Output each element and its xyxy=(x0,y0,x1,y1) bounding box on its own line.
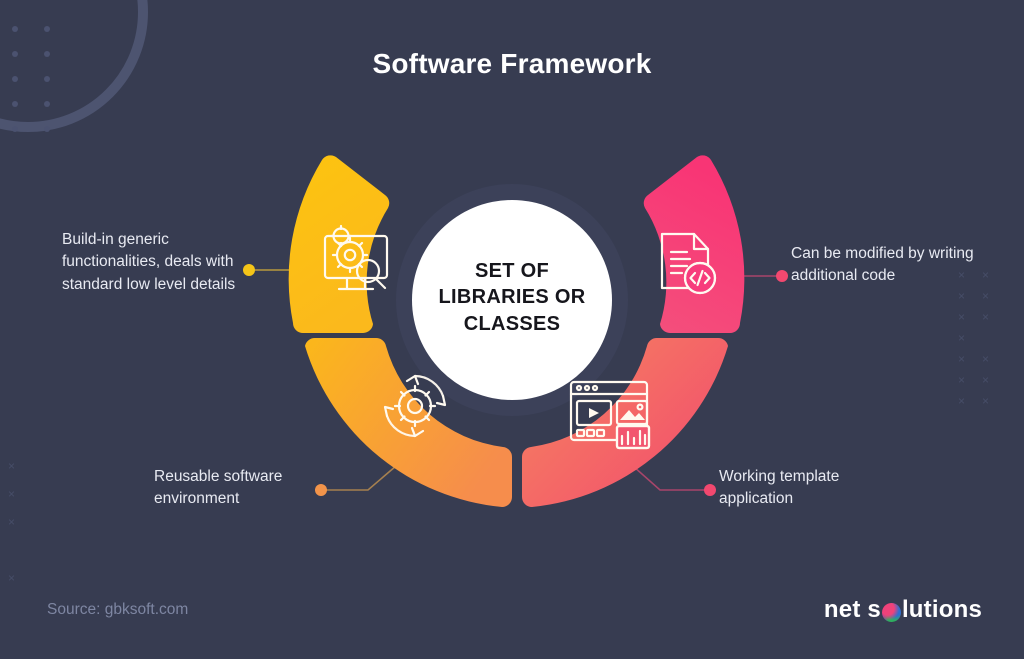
connector-dot-top-right xyxy=(776,270,788,282)
x-mark-icon: × xyxy=(958,374,982,395)
x-mark-icon: × xyxy=(8,516,32,544)
x-mark-icon xyxy=(8,544,32,572)
label-build-in-generic: Build-in generic functionalities, deals … xyxy=(62,229,262,296)
center-circle xyxy=(412,200,612,400)
x-mark-icon: × xyxy=(958,353,982,374)
decorative-x-grid-left: × × × × xyxy=(8,460,32,600)
infographic-canvas: × ×× ×× ×× × ×× ×× ×× × × × × Software F… xyxy=(0,0,1024,659)
x-mark-icon: × xyxy=(982,374,1006,395)
x-mark-icon: × xyxy=(982,269,1006,290)
x-mark-icon: × xyxy=(982,290,1006,311)
label-reusable-software: Reusable software environment xyxy=(154,466,344,511)
page-title: Software Framework xyxy=(0,48,1024,80)
x-mark-icon: × xyxy=(8,488,32,516)
brand-logo: net slutions xyxy=(824,596,982,624)
x-mark-icon: × xyxy=(982,311,1006,332)
x-mark-icon: × xyxy=(958,395,982,416)
donut-chart xyxy=(281,150,743,510)
label-working-template: Working template application xyxy=(719,466,904,511)
label-can-be-modified: Can be modified by writing additional co… xyxy=(791,243,976,288)
logo-text-part1: net s xyxy=(824,596,881,624)
decorative-dot-grid xyxy=(12,26,76,151)
x-mark-icon xyxy=(982,332,1006,353)
x-mark-icon: × xyxy=(8,572,32,600)
x-mark-icon: × xyxy=(982,353,1006,374)
x-mark-icon: × xyxy=(958,311,982,332)
x-mark-icon: × xyxy=(958,290,982,311)
x-mark-icon: × xyxy=(958,332,982,353)
x-mark-icon: × xyxy=(982,395,1006,416)
x-mark-icon xyxy=(982,248,1006,269)
x-mark-icon: × xyxy=(8,460,32,488)
logo-text-part2: lutions xyxy=(902,596,982,624)
logo-circle-mark-icon xyxy=(882,603,901,622)
source-attribution: Source: gbksoft.com xyxy=(47,601,188,619)
